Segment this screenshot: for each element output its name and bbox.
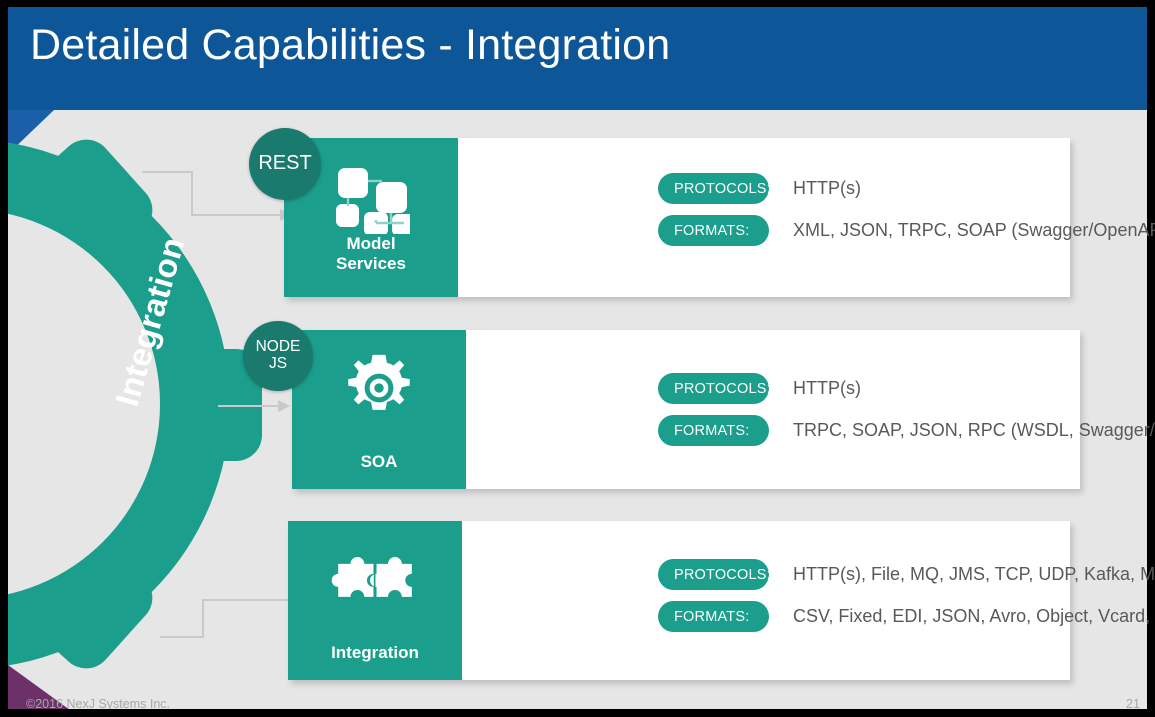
card-3-formats-value: CSV, Fixed, EDI, JSON, Avro, Object, Vca… [793,606,1155,627]
card-2-row-protocols: PROTOCOLS: HTTP(s) [658,373,861,404]
badge-rest-label: REST [258,153,311,175]
connector-to-card-2 [218,395,298,417]
card-1-title: Model Services [284,234,458,273]
frame-top [0,0,1155,7]
card-2-title-line1: SOA [292,452,466,472]
card-2-formats-pill: FORMATS: [658,415,769,446]
badge-nodejs[interactable]: NODE JS [243,321,313,391]
card-3-left-panel: Integration [288,521,462,680]
card-3-row-formats: FORMATS: CSV, Fixed, EDI, JSON, Avro, Ob… [658,601,1155,632]
card-1-row-protocols: PROTOCOLS: HTTP(s) [658,173,861,204]
card-2-formats-value: TRPC, SOAP, JSON, RPC (WSDL, Swagger/Ope… [793,420,1155,441]
card-1-body: PROTOCOLS: HTTP(s) FORMATS: XML, JSON, T… [458,138,1070,297]
network-nodes-icon [332,164,410,234]
card-1-title-line1: Model [284,234,458,254]
blue-corner-decoration [8,110,54,154]
frame-left [0,0,8,717]
card-1-row-formats: FORMATS: XML, JSON, TRPC, SOAP (Swagger/… [658,215,1155,246]
card-2-body: PROTOCOLS: HTTP(s) FORMATS: TRPC, SOAP, … [466,330,1080,489]
card-2-title: SOA [292,452,466,472]
card-2-protocols-value: HTTP(s) [793,378,861,399]
card-1-title-line2: Services [284,254,458,274]
card-2-row-formats: FORMATS: TRPC, SOAP, JSON, RPC (WSDL, Sw… [658,415,1155,446]
card-2-protocols-pill: PROTOCOLS: [658,373,769,404]
capability-card-model-services[interactable]: Model Services PROTOCOLS: HTTP(s) FORMAT… [284,138,1070,297]
card-1-protocols-pill: PROTOCOLS: [658,173,769,204]
card-3-title-line1: Integration [288,643,462,663]
puzzle-pieces-icon [329,547,421,613]
badge-rest[interactable]: REST [249,128,321,200]
badge-nodejs-label-line2: JS [269,356,287,373]
card-1-protocols-value: HTTP(s) [793,178,861,199]
gear-icon [343,352,415,424]
connector-to-card-3 [160,588,305,650]
capability-card-soa[interactable]: SOA PROTOCOLS: HTTP(s) FORMATS: TRPC, SO… [292,330,1080,489]
card-3-body: PROTOCOLS: HTTP(s), File, MQ, JMS, TCP, … [462,521,1070,680]
card-3-protocols-value: HTTP(s), File, MQ, JMS, TCP, UDP, Kafka,… [793,564,1155,585]
frame-bottom [0,709,1155,717]
page-title: Detailed Capabilities - Integration [30,24,670,67]
card-3-title: Integration [288,643,462,663]
card-1-formats-pill: FORMATS: [658,215,769,246]
card-3-protocols-pill: PROTOCOLS: [658,559,769,590]
card-1-formats-value: XML, JSON, TRPC, SOAP (Swagger/OpenAPI) [793,220,1155,241]
card-3-formats-pill: FORMATS: [658,601,769,632]
capability-card-integration[interactable]: Integration PROTOCOLS: HTTP(s), File, MQ… [288,521,1070,680]
slide-canvas: Detailed Capabilities - Integration [0,0,1155,717]
badge-nodejs-label-line1: NODE [256,339,301,356]
card-3-row-protocols: PROTOCOLS: HTTP(s), File, MQ, JMS, TCP, … [658,559,1155,590]
ring-label: Integration [108,208,200,411]
card-2-left-panel: SOA [292,330,466,489]
